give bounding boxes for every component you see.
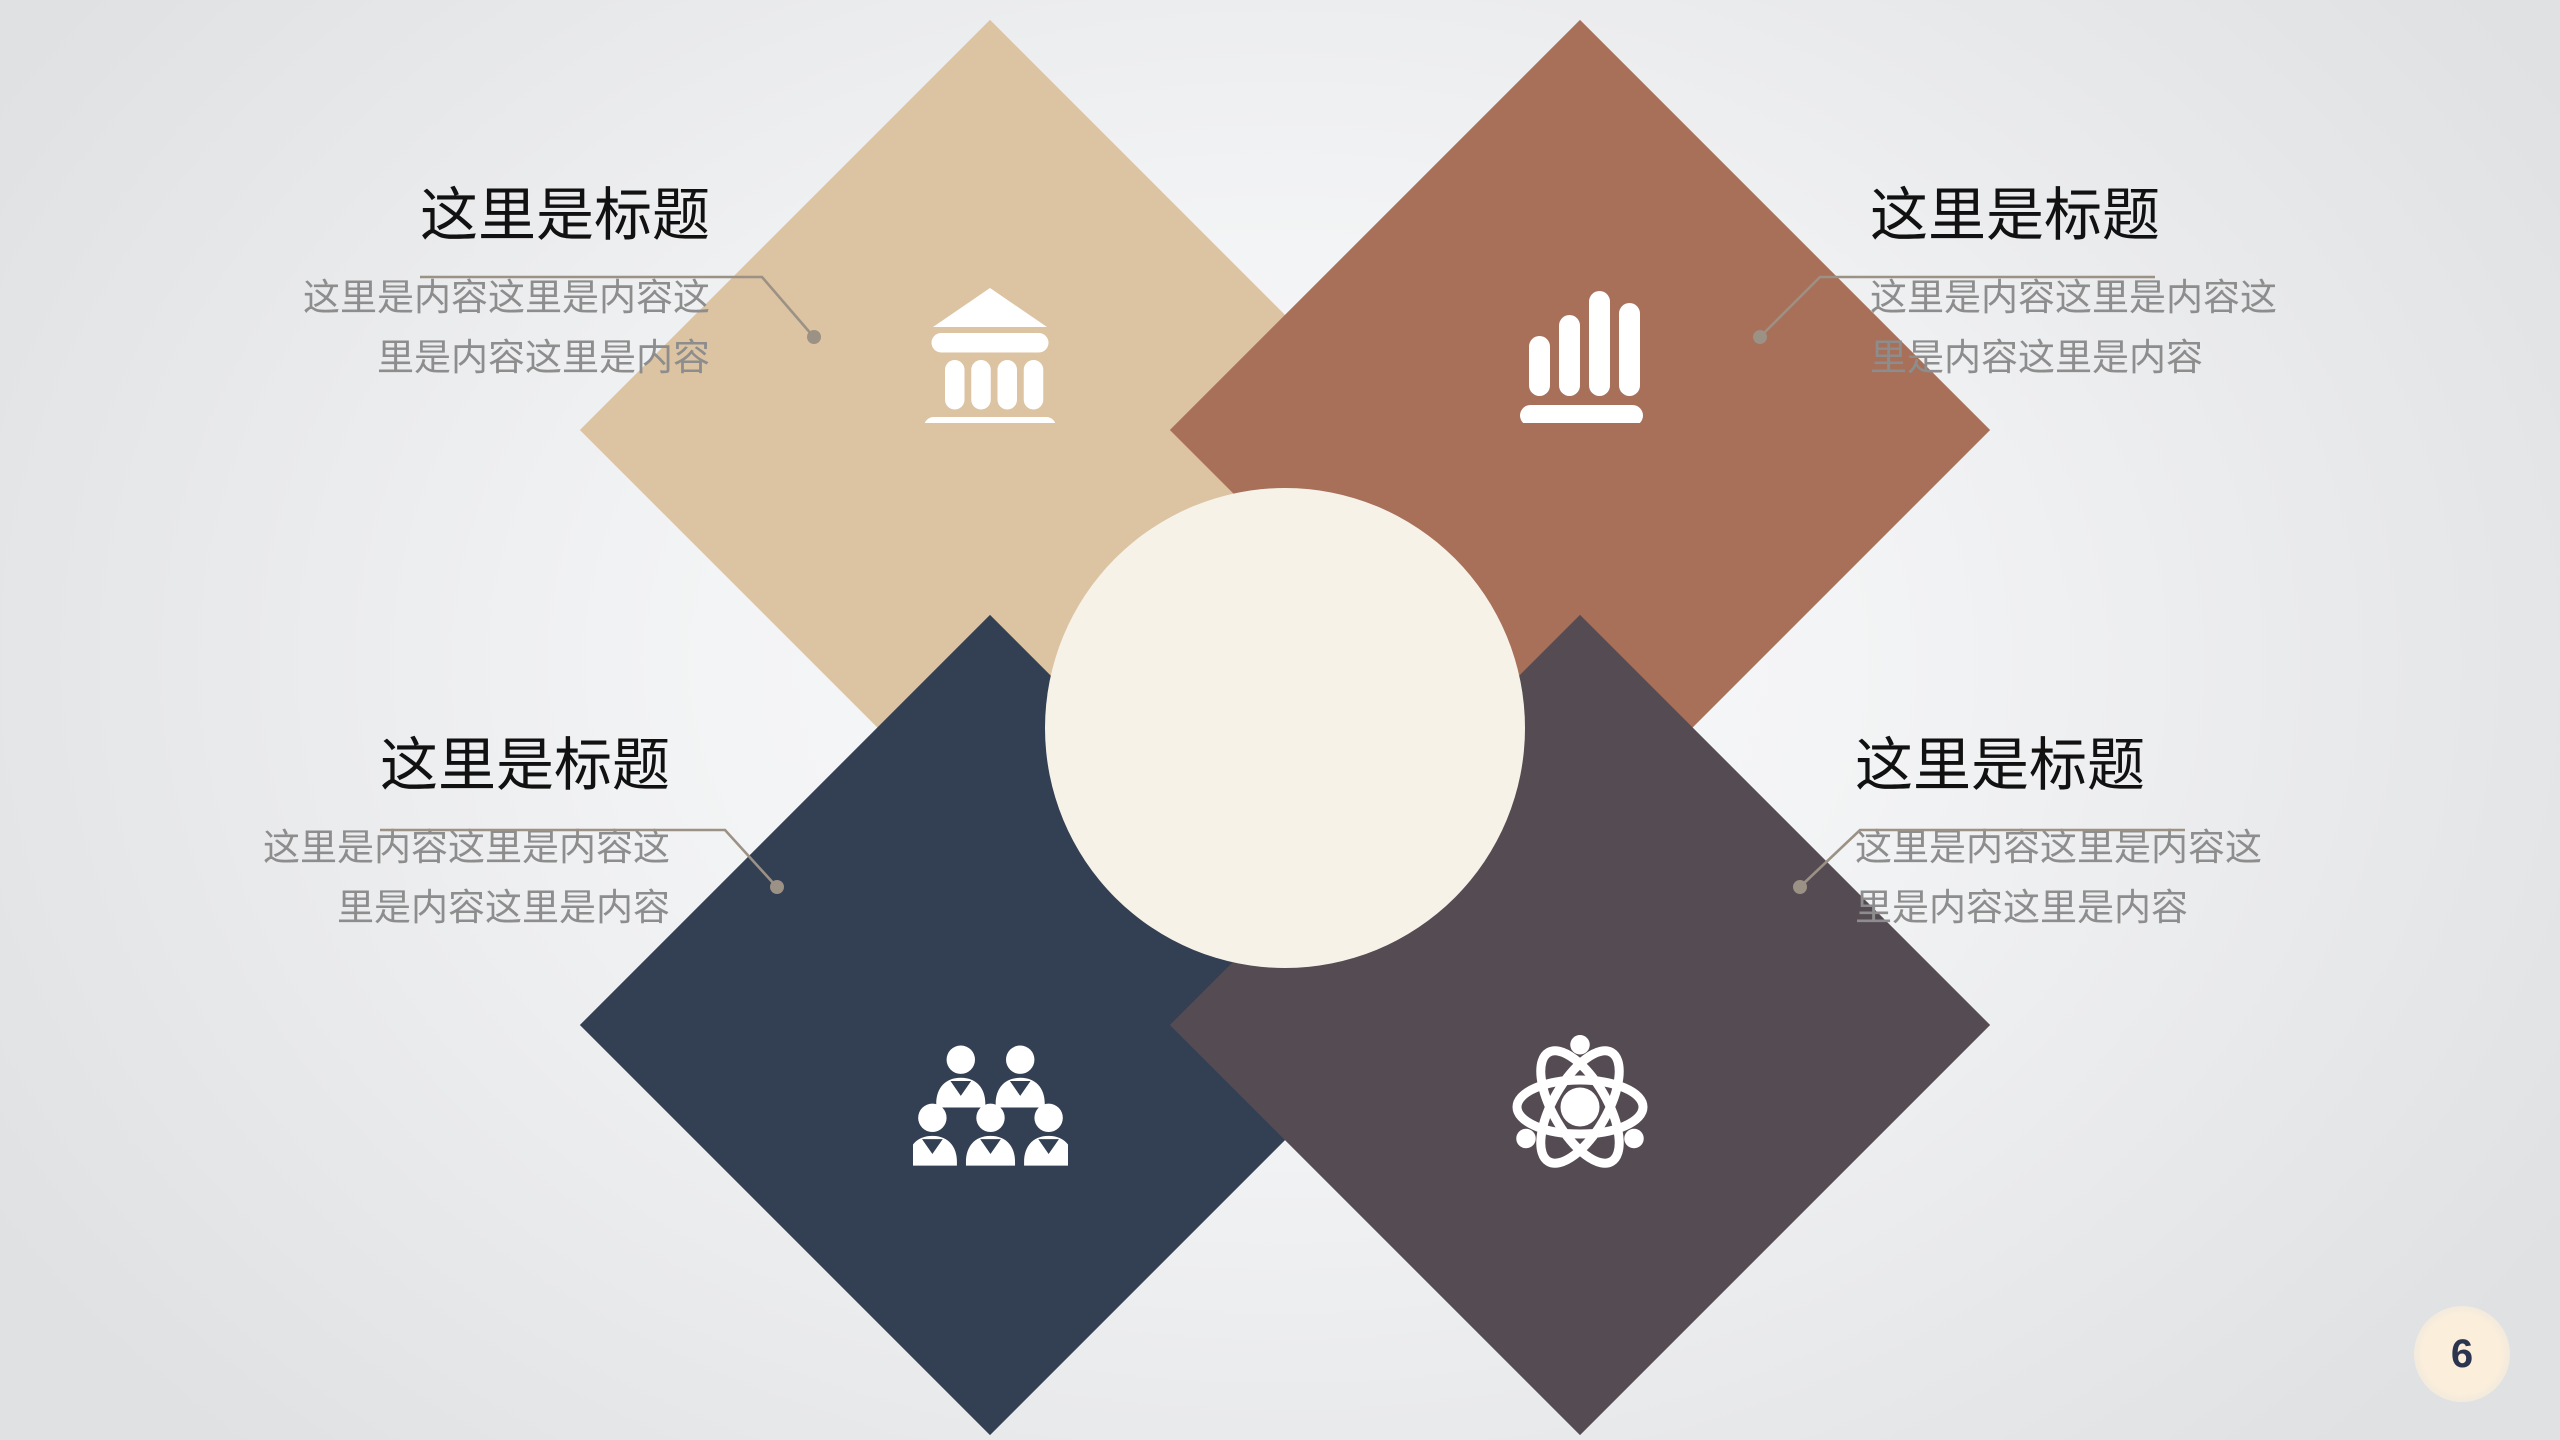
callout-body-line-1: 这里是内容这里是内容这 [110, 818, 670, 878]
callout-bottom-left: 这里是标题 这里是内容这里是内容这 里是内容这里是内容 [110, 735, 670, 938]
bank-icon [900, 258, 1080, 438]
callout-body-top-left: 这里是内容这里是内容这 里是内容这里是内容 [150, 268, 710, 388]
callout-body-line-2: 里是内容这里是内容 [1855, 878, 2415, 938]
people-group-icon [900, 1017, 1080, 1197]
callout-title-bottom-right: 这里是标题 [1855, 735, 2415, 798]
bar-chart-icon [1490, 258, 1670, 438]
callout-body-bottom-left: 这里是内容这里是内容这 里是内容这里是内容 [110, 818, 670, 938]
slide-canvas: 这里是标题 这里是内容这里是内容这 里是内容这里是内容 这里是标题 这里是内容这… [0, 0, 2560, 1440]
callout-title-top-right: 这里是标题 [1870, 185, 2430, 248]
callout-top-right: 这里是标题 这里是内容这里是内容这 里是内容这里是内容 [1870, 185, 2430, 388]
page-number: 6 [2414, 1306, 2510, 1402]
callout-body-line-1: 这里是内容这里是内容这 [1870, 268, 2430, 328]
page-number-value: 6 [2451, 1332, 2473, 1377]
callout-body-line-2: 里是内容这里是内容 [150, 328, 710, 388]
center-circle [1045, 488, 1525, 968]
callout-body-line-2: 里是内容这里是内容 [1870, 328, 2430, 388]
callout-title-bottom-left: 这里是标题 [110, 735, 670, 798]
callout-body-line-1: 这里是内容这里是内容这 [1855, 818, 2415, 878]
callout-title-top-left: 这里是标题 [150, 185, 710, 248]
atom-icon [1490, 1017, 1670, 1197]
callout-top-left: 这里是标题 这里是内容这里是内容这 里是内容这里是内容 [150, 185, 710, 388]
callout-body-bottom-right: 这里是内容这里是内容这 里是内容这里是内容 [1855, 818, 2415, 938]
callout-body-top-right: 这里是内容这里是内容这 里是内容这里是内容 [1870, 268, 2430, 388]
callout-bottom-right: 这里是标题 这里是内容这里是内容这 里是内容这里是内容 [1855, 735, 2415, 938]
diamond-cluster [700, 140, 1870, 1315]
callout-body-line-2: 里是内容这里是内容 [110, 878, 670, 938]
callout-body-line-1: 这里是内容这里是内容这 [150, 268, 710, 328]
